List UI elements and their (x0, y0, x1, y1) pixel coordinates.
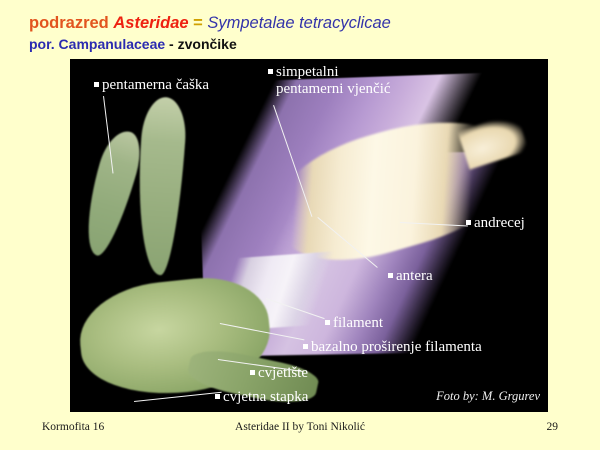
title-family: por. Campanulaceae (29, 36, 165, 52)
callout-andrecej: andrecej (466, 215, 525, 232)
callout-label-line1: simpetalni (276, 64, 339, 80)
callout-label: bazalno proširenje filamenta (311, 339, 482, 355)
callout-pentamerna-caska: pentamerna čaška (94, 77, 209, 94)
callout-label: pentamerna čaška (102, 77, 209, 93)
title-taxon: Asteridae (113, 14, 188, 32)
title-synonym: Sympetalae tetracyclicae (207, 14, 390, 32)
callout-simpetalni-vjencic: simpetalni pentamerni vjenčić (268, 64, 391, 98)
sepal-lobe-left (75, 126, 147, 260)
slide-footer: Kormofita 16 Asteridae II by Toni Nikoli… (0, 421, 600, 441)
callout-bullet-icon (466, 220, 471, 225)
title-line-1: podrazred Asteridae = Sympetalae tetracy… (29, 13, 589, 33)
callout-bullet-icon (94, 82, 99, 87)
callout-label: filament (333, 315, 383, 331)
title-block: podrazred Asteridae = Sympetalae tetracy… (29, 13, 589, 53)
callout-label: cvjetna stapka (223, 389, 308, 405)
callout-label: cvjetište (258, 365, 308, 381)
title-rank: podrazred (29, 14, 113, 32)
callout-bullet-icon (303, 344, 308, 349)
photo-content (70, 59, 548, 412)
slide: podrazred Asteridae = Sympetalae tetracy… (0, 0, 600, 450)
photo-credit: Foto by: M. Grgurev (436, 389, 540, 404)
sepal-lobe-right (132, 96, 188, 277)
title-equals: = (189, 14, 208, 32)
title-line-2: por. Campanulaceae - zvončike (29, 35, 589, 53)
footer-center-text: Asteridae II by Toni Nikolić (0, 421, 600, 433)
callout-filament: filament (325, 315, 383, 332)
callout-bullet-icon (388, 273, 393, 278)
callout-antera: antera (388, 268, 433, 285)
callout-label-line2: pentamerni vjenčić (276, 81, 391, 97)
callout-bullet-icon (325, 320, 330, 325)
callout-bullet-icon (215, 394, 220, 399)
callout-bullet-icon (250, 370, 255, 375)
footer-page-number: 29 (547, 421, 559, 433)
callout-label: andrecej (474, 215, 525, 231)
flower-photograph: pentamerna čaška simpetalni pentamerni v… (70, 59, 548, 412)
callout-cvjetiste: cvjetište (250, 365, 308, 382)
title-common-name: - zvončike (165, 36, 237, 52)
callout-cvjetna-stapka: cvjetna stapka (215, 389, 308, 406)
callout-bazalno-prosirenje: bazalno proširenje filamenta (303, 339, 482, 356)
callout-label: antera (396, 268, 433, 284)
callout-bullet-icon (268, 69, 273, 74)
